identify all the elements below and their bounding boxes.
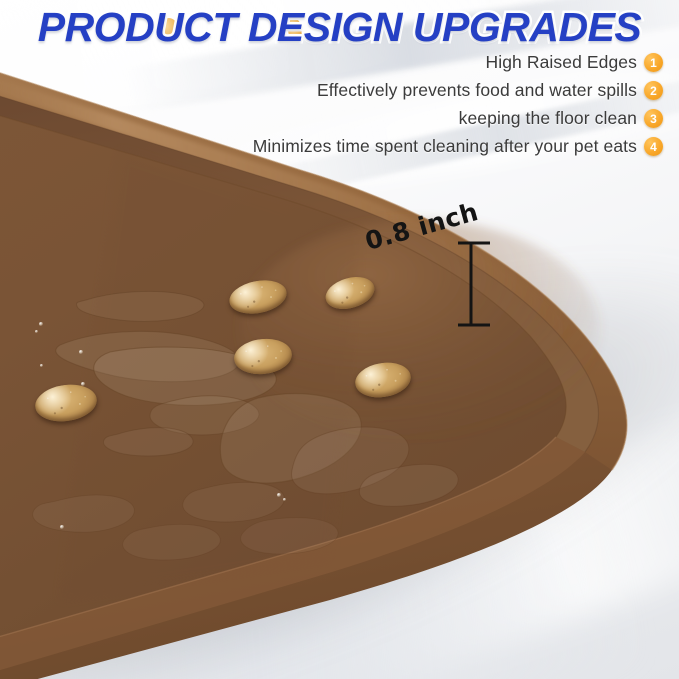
- water-droplet: [277, 493, 281, 497]
- feature-label: Effectively prevents food and water spil…: [317, 80, 637, 101]
- feature-item: keeping the floor clean 3: [103, 106, 663, 131]
- page-title: PRODUCT DESIGN UPGRADES: [0, 4, 679, 51]
- feature-label: High Raised Edges: [485, 52, 637, 73]
- dimension-bracket-icon: [452, 236, 512, 332]
- feature-item: Effectively prevents food and water spil…: [103, 78, 663, 103]
- water-droplet: [79, 350, 83, 354]
- feature-number-badge: 2: [644, 81, 663, 100]
- feature-number-badge: 4: [644, 137, 663, 156]
- water-droplet: [60, 525, 64, 529]
- product-marketing-image: 0.8 inch PRODUCT DESIGN UPGRADES High Ra…: [0, 0, 679, 679]
- feature-label: keeping the floor clean: [459, 108, 637, 129]
- feature-number-badge: 3: [644, 109, 663, 128]
- feature-item: Minimizes time spent cleaning after your…: [103, 134, 663, 159]
- water-droplet: [283, 498, 286, 501]
- water-droplet: [40, 364, 43, 367]
- feature-item: High Raised Edges 1: [103, 50, 663, 75]
- water-droplet: [39, 322, 43, 326]
- feature-list: High Raised Edges 1 Effectively prevents…: [103, 50, 663, 162]
- water-droplet: [81, 382, 85, 386]
- feature-number-badge: 1: [644, 53, 663, 72]
- water-droplet: [35, 330, 38, 333]
- feature-label: Minimizes time spent cleaning after your…: [253, 136, 637, 157]
